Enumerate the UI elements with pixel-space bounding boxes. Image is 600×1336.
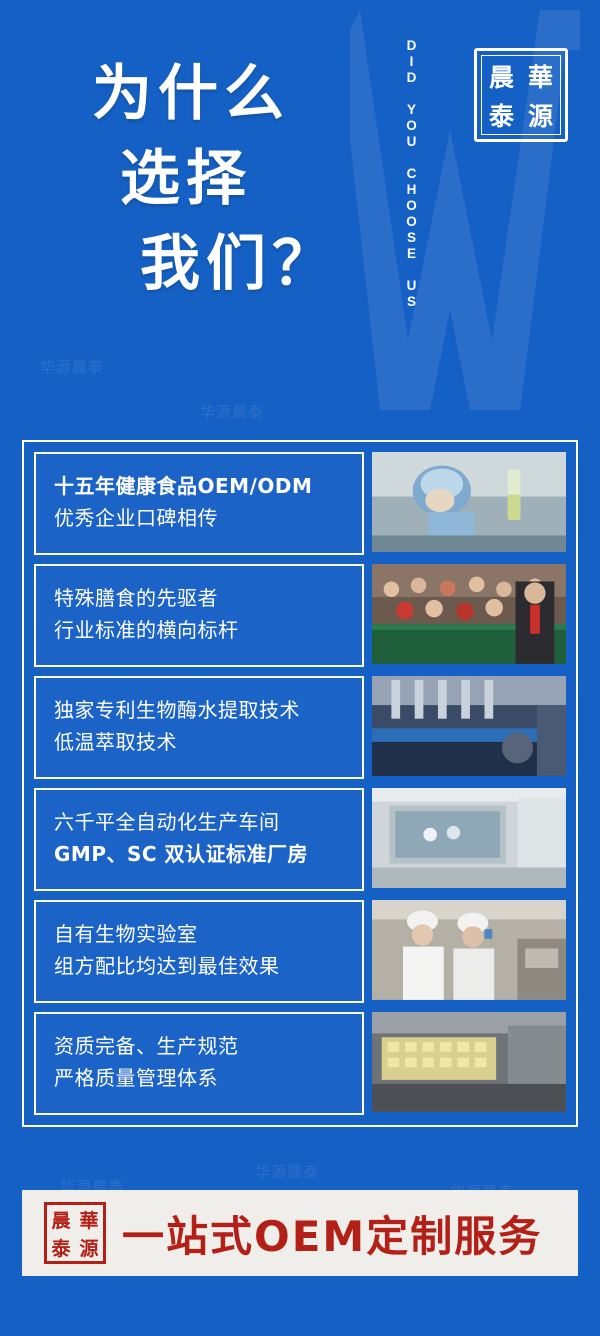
poster-root: 华源晨泰 华源晨泰 华源晨泰 华源晨泰 华源晨泰 华源晨泰 华源晨泰 为什么 选…: [0, 0, 600, 1336]
feature-line-5b: 组方配比均达到最佳效果: [54, 950, 348, 982]
feature-line-2a: 特殊膳食的先驱者: [54, 582, 348, 614]
feature-line-6b: 严格质量管理体系: [54, 1062, 348, 1094]
title-line-3: 我们？: [92, 222, 392, 307]
feature-line-4b: GMP、SC 双认证标准厂房: [54, 838, 348, 870]
footer-slogan: 一站式OEM定制服务: [122, 1203, 542, 1264]
feature-text-2: 特殊膳食的先驱者 行业标准的横向标杆: [34, 564, 364, 667]
brand-logo-seal: 晨 華 泰 源: [474, 48, 568, 142]
footer-seal-char-3: 泰: [47, 1233, 75, 1261]
seal-char-0: 華: [521, 56, 560, 95]
seal-char-1: 晨: [482, 56, 521, 95]
feature-line-2b: 行业标准的横向标杆: [54, 614, 348, 646]
seal-char-2: 源: [521, 95, 560, 134]
feature-text-1: 十五年健康食品OEM/ODM 优秀企业口碑相传: [34, 452, 364, 555]
feature-line-4a: 六千平全自动化生产车间: [54, 806, 348, 838]
filling-line-photo: [372, 676, 566, 779]
feature-list: 十五年健康食品OEM/ODM 优秀企业口碑相传: [22, 440, 578, 1127]
feature-line-3b: 低温萃取技术: [54, 726, 348, 758]
list-item: 十五年健康食品OEM/ODM 优秀企业口碑相传: [34, 452, 566, 555]
list-item: 独家专利生物酶水提取技术 低温萃取技术: [34, 676, 566, 779]
seal-char-3: 泰: [482, 95, 521, 134]
list-item: 特殊膳食的先驱者 行业标准的横向标杆: [34, 564, 566, 667]
feature-text-6: 资质完备、生产规范 严格质量管理体系: [34, 1012, 364, 1115]
footer-seal: 晨 華 泰 源: [44, 1202, 106, 1264]
list-item: 自有生物实验室 组方配比均达到最佳效果: [34, 900, 566, 1003]
footer-seal-char-1: 晨: [47, 1205, 75, 1233]
page-title: 为什么 选择 我们？: [92, 52, 392, 308]
conference-audience-photo: [372, 564, 566, 667]
footer-seal-char-0: 華: [75, 1205, 103, 1233]
list-item: 六千平全自动化生产车间 GMP、SC 双认证标准厂房: [34, 788, 566, 891]
feature-line-5a: 自有生物实验室: [54, 918, 348, 950]
lab-technician-photo: [372, 452, 566, 555]
feature-line-6a: 资质完备、生产规范: [54, 1030, 348, 1062]
footer-bottom-strip: [0, 1276, 600, 1336]
cleanroom-workshop-photo: [372, 788, 566, 891]
title-line-1: 为什么: [92, 52, 392, 137]
feature-text-4: 六千平全自动化生产车间 GMP、SC 双认证标准厂房: [34, 788, 364, 891]
lab-researchers-photo: [372, 900, 566, 1003]
feature-text-3: 独家专利生物酶水提取技术 低温萃取技术: [34, 676, 364, 779]
feature-line-1b: 优秀企业口碑相传: [54, 502, 348, 534]
feature-line-1a: 十五年健康食品OEM/ODM: [54, 470, 348, 502]
poster-header: 为什么 选择 我们？ DID YOU CHOOSE US 晨 華 泰 源: [0, 0, 600, 430]
feature-line-3a: 独家专利生物酶水提取技术: [54, 694, 348, 726]
watermark-seal: 华源晨泰: [255, 1165, 319, 1181]
list-item: 资质完备、生产规范 严格质量管理体系: [34, 1012, 566, 1115]
feature-text-5: 自有生物实验室 组方配比均达到最佳效果: [34, 900, 364, 1003]
vertical-english-label: DID YOU CHOOSE US: [398, 38, 424, 388]
title-line-2: 选择: [92, 137, 392, 222]
footer-banner: 晨 華 泰 源 一站式OEM定制服务: [22, 1190, 578, 1276]
footer-seal-char-2: 源: [75, 1233, 103, 1261]
blister-packing-photo: [372, 1012, 566, 1115]
